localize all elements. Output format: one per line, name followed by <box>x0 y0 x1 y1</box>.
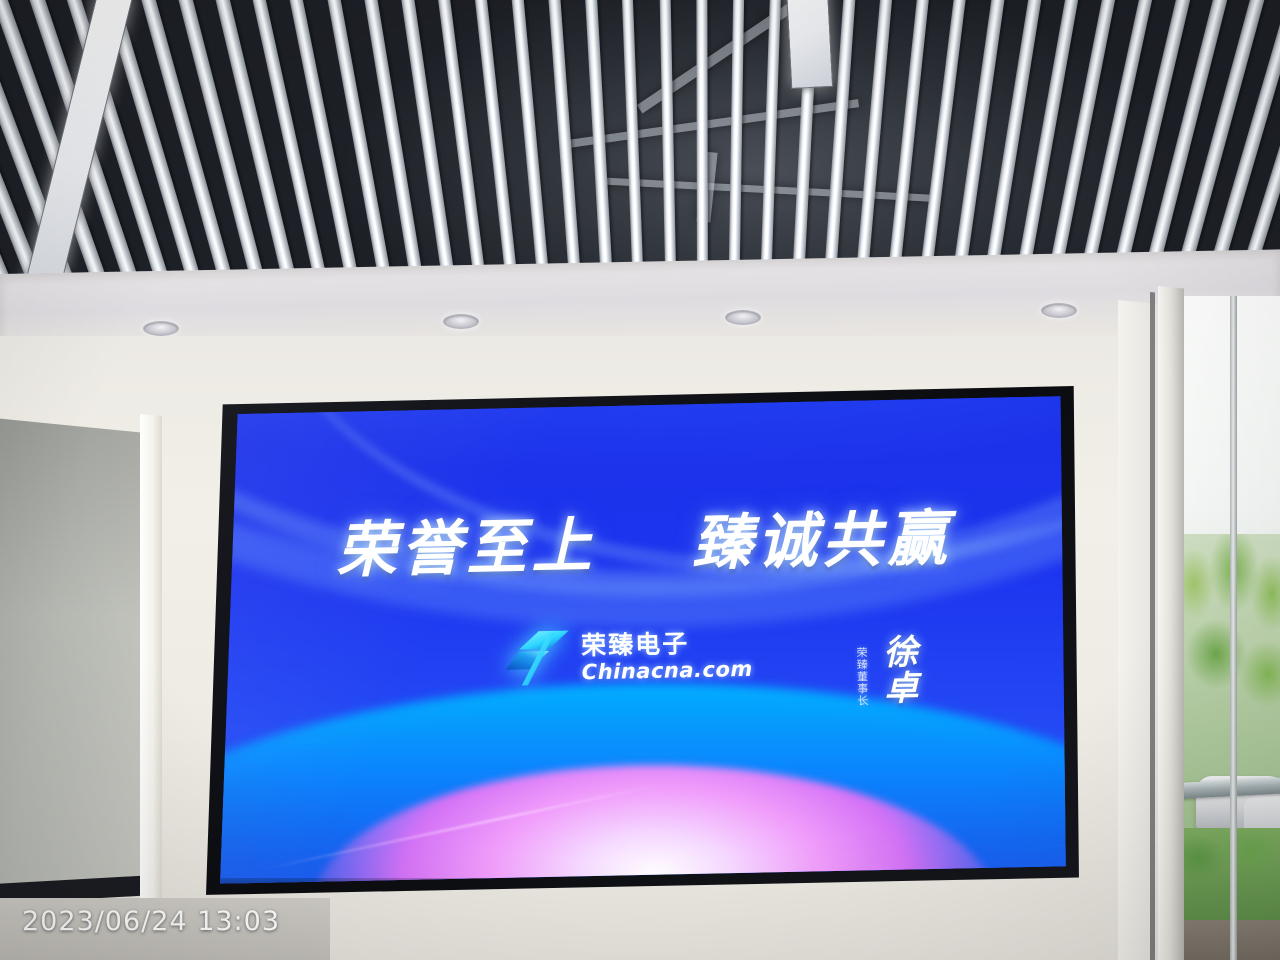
window-frame <box>1158 286 1184 960</box>
exterior-window <box>1176 296 1280 960</box>
led-video-wall[interactable]: 荣誉至上 臻诚共赢 <box>206 386 1086 898</box>
ceiling-slat <box>510 0 553 300</box>
logo-text-block: 荣臻电子 Chinacna.com <box>581 629 753 682</box>
company-logo: 荣臻电子 Chinacna.com <box>505 624 753 689</box>
ceiling-slat <box>852 0 894 300</box>
signature-block: 荣臻董事长 徐卓 <box>853 634 923 707</box>
recessed-downlight <box>1041 303 1077 318</box>
headline-right: 臻诚共赢 <box>691 504 952 579</box>
logo-name-cn: 荣臻电子 <box>581 629 752 657</box>
ceiling-slat <box>759 0 782 300</box>
panel-light-fixture <box>785 0 833 89</box>
window-frame-shadow <box>1150 292 1155 960</box>
photo-scene: 荣誉至上 臻诚共赢 <box>0 0 1280 960</box>
screen-content: 荣誉至上 臻诚共赢 <box>206 386 1086 898</box>
signature-name: 徐卓 <box>873 634 923 707</box>
ceiling-slat <box>547 0 584 300</box>
ceiling-slat <box>622 0 646 300</box>
ceiling-slat <box>659 0 677 300</box>
headline-left: 荣誉至上 <box>336 511 597 586</box>
screen-headline: 荣誉至上 臻诚共赢 <box>206 487 1085 592</box>
headline-gap <box>622 565 666 566</box>
ceiling-slat <box>696 0 708 300</box>
ceiling-slat <box>584 0 614 300</box>
alcove-jamb <box>140 414 162 928</box>
recessed-downlight <box>725 310 761 325</box>
recessed-downlight <box>143 321 179 336</box>
recessed-downlight <box>443 314 479 329</box>
screen-display-area[interactable]: 荣誉至上 臻诚共赢 <box>206 386 1086 898</box>
ceiling-slat <box>325 0 399 300</box>
chevron-logo-icon <box>505 628 572 689</box>
photo-timestamp: 2023/06/24 13:03 <box>22 906 280 937</box>
signature-role: 荣臻董事长 <box>853 647 870 707</box>
alcove-shadow <box>0 418 146 918</box>
ceiling-slat <box>728 0 745 300</box>
logo-name-en: Chinacna.com <box>582 658 753 682</box>
window-mullion <box>1230 296 1237 960</box>
window-ground <box>1176 920 1280 960</box>
